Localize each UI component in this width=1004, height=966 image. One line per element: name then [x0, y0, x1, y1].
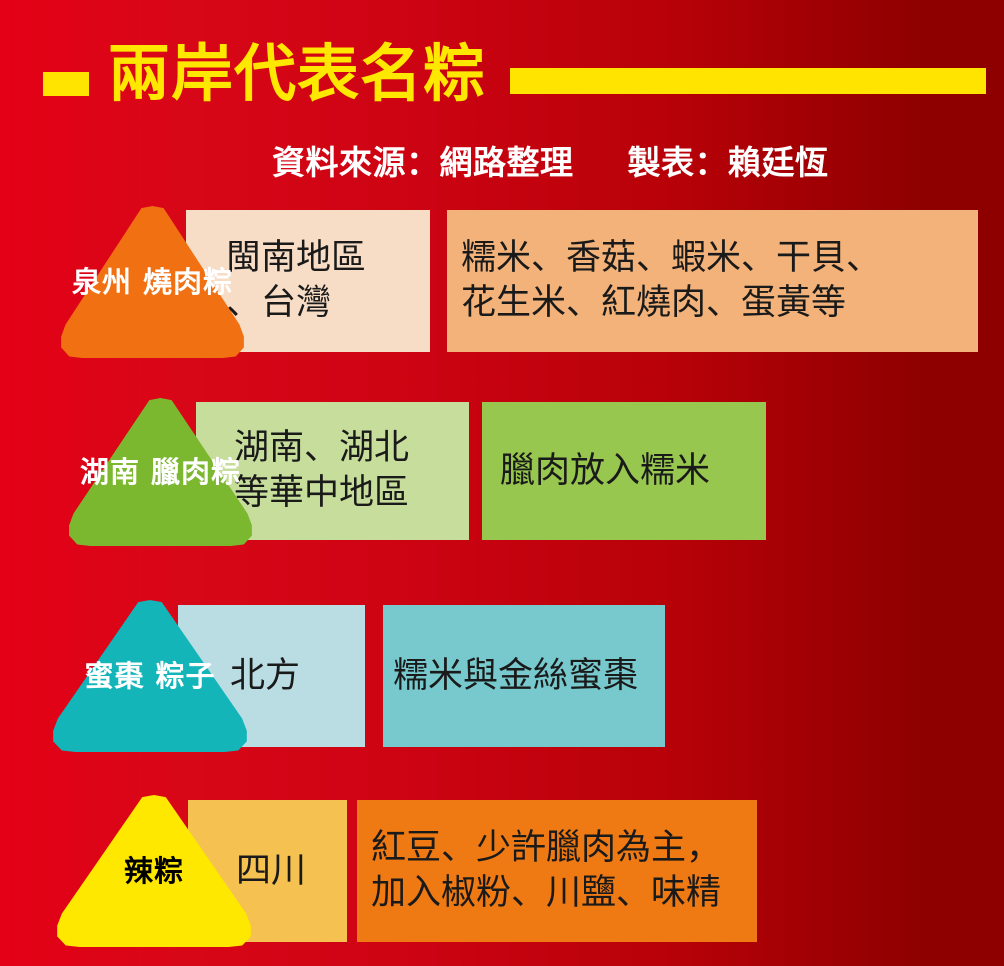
title-rule-divider — [510, 68, 986, 94]
ingredients-text: 糯米、香菇、蝦米、干貝、 花生米、紅燒肉、蛋黃等 — [447, 236, 881, 326]
table-row-badge: 泉州 燒肉粽 — [60, 206, 245, 358]
ingredients-text: 糯米與金絲蜜棗 — [383, 654, 638, 699]
page-title: 兩岸代表名粽 — [108, 43, 486, 105]
infographic-root: 兩岸代表名粽 資料來源：網路整理 製表：賴廷恆 泉州 燒肉粽 閩南地區 、台灣 … — [0, 0, 1004, 966]
table-row-badge: 蜜棗 粽子 — [52, 600, 248, 752]
ingredients-text: 臘肉放入糯米 — [482, 449, 710, 494]
table-row-badge: 湖南 臘肉粽 — [68, 398, 253, 546]
ingredients-text: 紅豆、少許臘肉為主， 加入椒粉、川鹽、味精 — [357, 826, 721, 916]
table-row: 糯米、香菇、蝦米、干貝、 花生米、紅燒肉、蛋黃等 — [447, 210, 978, 352]
zongzi-name-label: 蜜棗 粽子 — [84, 658, 215, 695]
table-row-badge: 辣粽 — [56, 795, 252, 947]
source-label: 資料來源：網路整理 — [272, 143, 574, 183]
credits-row: 資料來源：網路整理 製表：賴廷恆 — [272, 143, 829, 183]
zongzi-name-label: 泉州 燒肉粽 — [72, 264, 233, 301]
zongzi-name-label: 湖南 臘肉粽 — [80, 454, 241, 491]
table-row: 糯米與金絲蜜棗 — [383, 605, 665, 747]
table-row: 臘肉放入糯米 — [482, 402, 766, 540]
table-row: 紅豆、少許臘肉為主， 加入椒粉、川鹽、味精 — [357, 800, 757, 942]
square-bullet-icon — [43, 72, 89, 96]
author-label: 製表：賴廷恆 — [628, 143, 829, 183]
zongzi-name-label: 辣粽 — [124, 853, 184, 890]
